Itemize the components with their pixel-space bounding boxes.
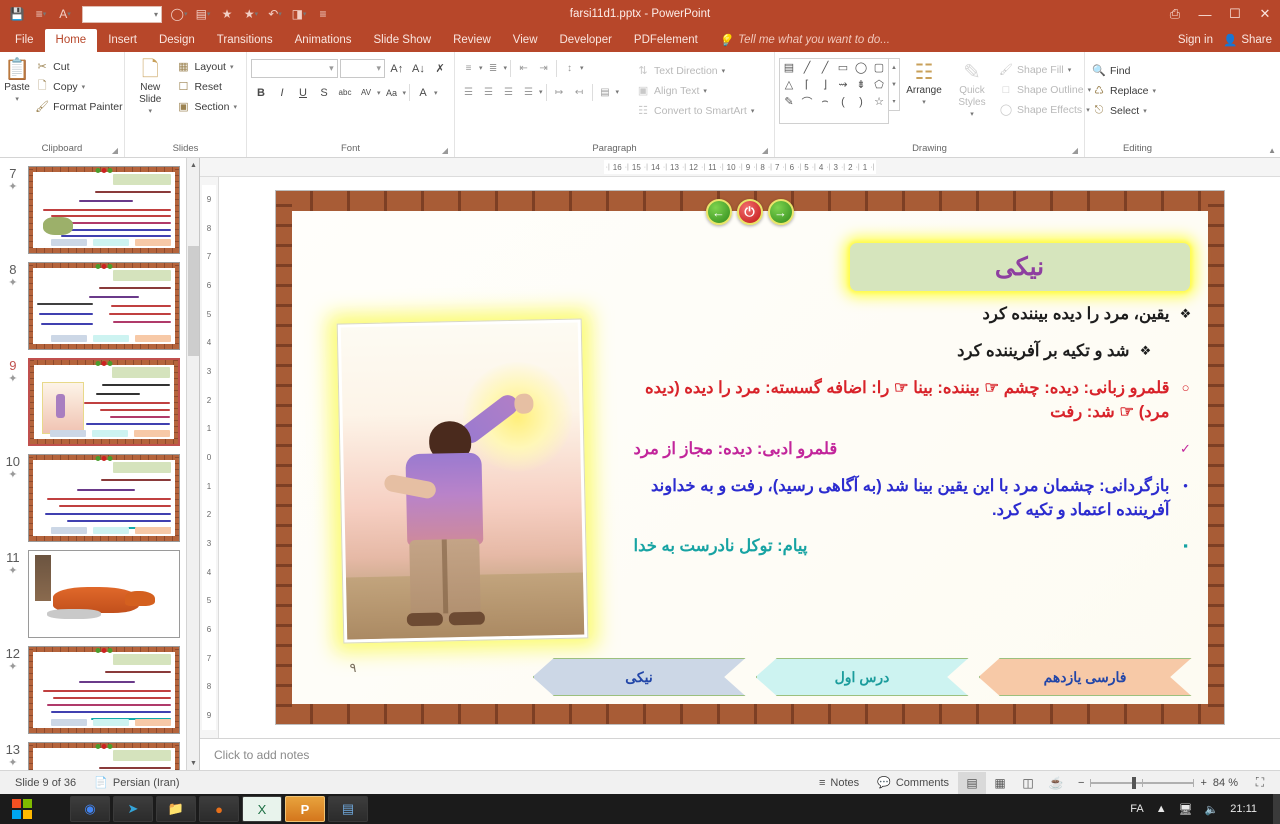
bullets-chevron-down-icon[interactable]: ▾ [479,64,483,72]
slideshow-view-icon[interactable]: ☕ [1042,772,1070,794]
tab-view[interactable]: View [502,29,549,52]
align-text-icon: ▣ [636,84,650,97]
scroll-down-icon[interactable]: ▼ [187,756,200,770]
line-spacing-chevron-down-icon[interactable]: ▾ [580,64,584,72]
thumbnail-slide-11[interactable]: 11 ✦ [0,546,186,642]
current-slide[interactable]: ← ⏻ → نیکی ❖ یقین، مرد را دیده بیننده کر… [275,190,1225,725]
reset-icon: ☐ [176,80,190,93]
ruler-v-9t: 9 [207,195,211,204]
shape-fill-button[interactable]: 🖌 Shape Fill ▾ [996,60,1096,79]
network-icon[interactable]: 🖥 [1179,803,1193,816]
underline-button[interactable]: U [293,83,313,102]
zoom-track[interactable] [1090,782,1194,784]
decrease-indent-button[interactable]: ⇤ [514,59,533,77]
bullet-text-5: بازگردانی: چشمان مرد با این یقین بینا شد… [634,475,1170,523]
star-icon-1[interactable]: ★ [216,3,238,25]
para-divider-3 [546,84,547,101]
ltr-direction-button[interactable]: ↦ [550,83,569,101]
ruler-v-5t: 5 [207,310,211,319]
shape-left-brace-icon[interactable]: ( [841,96,845,108]
thumb-meta-10: 10 ✦ [2,454,24,481]
drawing-dialog-launcher-icon[interactable]: ◢ [1072,146,1078,155]
text-direction-chevron-down-icon[interactable]: ▾ [722,67,726,75]
shape-outline-button[interactable]: □ Shape Outline ▾ [996,80,1096,99]
ribbon-group-font: ▾ ▾ A↑ A↓ ✗ B I U S abc AV ▾ Aa ▾ A ▾ [247,52,455,157]
cut-label: Cut [53,61,69,73]
horizontal-ruler[interactable]: ·| 16·| 15·| 14·| 13·| 12·| 11·| 10·| 9·… [200,158,1280,177]
show-desktop-button[interactable] [1273,794,1280,824]
section-button[interactable]: ▣ Section ▾ [173,97,242,116]
thumb-meta-8: 8 ✦ [2,262,24,289]
new-slide-button[interactable]: 🗋 New Slide ▾ [129,55,171,121]
align-center-button[interactable]: ☰ [479,83,498,101]
slide-sorter-view-icon[interactable]: ▦ [986,772,1014,794]
main-area: 7 ✦ [0,158,1280,770]
animation-star-icon-11: ✦ [8,565,17,577]
replace-chevron-down-icon[interactable]: ▾ [1153,87,1157,95]
ruler-h-4: 4 [816,163,826,172]
clock-time[interactable]: 21:11 [1230,803,1257,815]
shape-rectangle-icon[interactable]: ▭ [838,61,848,74]
copy-icon: 🗋 [35,77,49,96]
tab-file[interactable]: File [4,29,45,52]
ruler-h-13: 13 [667,163,682,172]
zoom-handle[interactable] [1132,777,1136,789]
shape-triangle-icon[interactable]: △ [785,78,793,91]
bullet-text-4: قلمرو ادبی: دیده: مجاز از مرد [634,438,1170,462]
find-label: Find [1110,65,1130,77]
font-dialog-launcher-icon[interactable]: ◢ [442,146,448,155]
select-button[interactable]: ⎋ Select ▾ [1089,101,1161,120]
banner-lesson-title[interactable]: نیکی [533,658,746,696]
strikethrough-button[interactable]: abc [335,83,355,102]
shape-curve-icon[interactable]: ⌒ [802,94,813,110]
lightbulb-icon: 💡 [719,33,733,47]
thumb-number-11: 11 [6,550,20,565]
slide-navigation-buttons[interactable]: ← ⏻ → [706,199,794,225]
tab-animations[interactable]: Animations [284,29,363,52]
thumb-frame-9[interactable] [28,358,180,446]
thumb-frame-8[interactable] [28,262,180,350]
notes-icon: ≡ [819,777,825,789]
thumbnail-slide-10[interactable]: 10 ✦ [0,450,186,546]
comments-button[interactable]: 💬 Comments [868,776,958,789]
align-right-button[interactable]: ☰ [499,83,518,101]
quick-styles-button[interactable]: ✎ Quick Styles ▾ [948,58,996,124]
thumb-number-10: 10 [6,454,20,469]
replace-icon: ♺ [1092,84,1106,97]
tab-home[interactable]: Home [45,29,98,52]
quick-styles-chevron-down-icon[interactable]: ▾ [970,109,974,121]
star-icon-2[interactable]: ★▾ [240,3,262,25]
format-icon[interactable]: ▤▾ [192,3,214,25]
clipboard-label-text: Clipboard [42,143,83,154]
arrange-chevron-down-icon[interactable]: ▾ [922,97,926,109]
tab-developer[interactable]: Developer [549,29,623,52]
magnifier-icon: 🔍 [1092,64,1106,77]
animation-star-icon-8: ✦ [8,277,17,289]
paste-chevron-down-icon[interactable]: ▾ [15,94,19,106]
figure-body [405,453,483,547]
clear-formatting-button[interactable]: ✗ [430,59,450,78]
tab-transitions[interactable]: Transitions [206,29,284,52]
ruler-v-6b: 6 [207,625,211,634]
mini-nav-7 [95,168,112,173]
quick-access-toolbar[interactable]: 💾 ≡▾ A▾ ▾ ◯▾ ▤▾ ★ ★▾ ↶▾ ◨▾ ≡ [0,3,334,25]
shapes-scroll-up-icon[interactable]: ▲ [889,59,899,76]
drawing-group-label: Drawing ◢ [779,143,1080,157]
vertical-ruler-marks: 9 8 7 6 5 4 3 2 1 0 1 2 3 4 5 6 7 [202,185,216,730]
ruler-h-12: 12 [686,163,701,172]
ruler-h-5: 5 [801,163,811,172]
copy-chevron-down-icon[interactable]: ▾ [82,83,86,91]
paste-icon: 📋 [4,58,30,82]
slide-border-bottom [276,704,1224,724]
new-slide-label: New Slide [129,82,171,106]
text-direction-icon: ⇅ [636,64,650,77]
shape-fill-chevron-down-icon[interactable]: ▾ [1068,66,1072,74]
window-controls[interactable]: ⎙ — ☐ ✕ [1160,0,1280,28]
character-spacing-chevron-down-icon[interactable]: ▾ [377,89,381,97]
zoom-level-text: 84 % [1213,777,1238,789]
redo-icon[interactable]: ↶▾ [264,3,286,25]
mini-title-7 [113,174,171,185]
font-color-button[interactable]: A [413,83,433,102]
language-indicator-fa[interactable]: FA [1130,803,1143,815]
horizontal-ruler-marks: ·| 16·| 15·| 14·| 13·| 12·| 11·| 10·| 9·… [604,160,877,174]
copy-button[interactable]: 🗋 Copy ▾ [32,77,127,96]
text-direction-button[interactable]: ⇅ Text Direction ▾ [633,61,759,80]
prev-slide-button[interactable]: ← [706,199,732,225]
slide-canvas[interactable]: ← ⏻ → نیکی ❖ یقین، مرد را دیده بیننده کر… [219,177,1280,738]
ruler-v-1t: 1 [207,424,211,433]
share-person-icon: 👤 [1223,33,1237,47]
rtl-direction-button[interactable]: ↤ [570,83,589,101]
ruler-v-4t: 4 [207,338,211,347]
numbering-button[interactable]: ≣ [484,59,503,77]
ruler-h-11: 11 [705,163,719,172]
tell-me-search[interactable]: 💡 Tell me what you want to do... [709,29,900,52]
align-text-button[interactable]: ▣ Align Text ▾ [633,81,759,100]
shape-fill-icon[interactable]: ◯▾ [168,3,190,25]
ruler-h-6: 6 [787,163,797,172]
shape-textbox-icon[interactable]: ▤ [784,61,794,74]
ruler-h-2: 2 [845,163,855,172]
shape-down-arrow-icon[interactable]: ⇟ [856,78,865,91]
zoom-slider[interactable]: − + 84 % [1070,777,1246,789]
shape-connector-icon[interactable]: ⌋ [823,78,827,91]
thumb-frame-10[interactable] [28,454,180,542]
shape-effects-icon: ◯ [999,103,1013,116]
shapes-scroll-down-icon[interactable]: ▼ [889,76,899,93]
paintbrush-icon: 🖌 [35,100,49,113]
thumb-number-8: 8 [9,262,16,277]
language-text: Persian (Iran) [113,777,180,789]
start-button[interactable] [0,794,44,824]
paste-button[interactable]: 📋 Paste ▾ [4,55,30,109]
ribbon-display-options-icon[interactable]: ⎙ [1160,0,1190,28]
tab-slide-show[interactable]: Slide Show [363,29,443,52]
home-button[interactable]: ⏻ [737,199,763,225]
bullet-item-5: • بازگردانی: چشمان مرد با این یقین بینا … [634,475,1194,523]
replace-label: Replace [1110,85,1149,97]
figure-right-shoe [448,612,484,626]
align-icon[interactable]: ◨▾ [288,3,310,25]
comment-bubble-icon: 💬 [877,776,891,789]
align-left-button[interactable]: ☰ [459,83,478,101]
convert-smartart-label: Convert to SmartArt [654,105,747,117]
editing-label-text: Editing [1123,143,1152,154]
title-bar: 💾 ≡▾ A▾ ▾ ◯▾ ▤▾ ★ ★▾ ↶▾ ◨▾ ≡ farsi11d1.p… [0,0,1280,28]
layout-chevron-down-icon[interactable]: ▾ [230,63,234,71]
mini-slide-11 [29,551,179,637]
increase-indent-button[interactable]: ⇥ [534,59,553,77]
reset-label: Reset [194,81,221,93]
mini-slide-8 [29,263,179,349]
bold-button[interactable]: B [251,83,271,102]
bullets-button[interactable]: ≡ [459,59,478,77]
shape-effects-button[interactable]: ◯ Shape Effects ▾ [996,100,1096,119]
customize-qat-icon[interactable]: ≡ [312,3,334,25]
ruler-v-7t: 7 [207,252,211,261]
change-case-button[interactable]: Aa [382,83,402,102]
animation-star-icon-13: ✦ [8,757,17,769]
para-divider-1 [510,60,511,77]
select-chevron-down-icon[interactable]: ▾ [1143,107,1147,115]
sign-in-link[interactable]: Sign in [1178,34,1213,46]
shapes-more-icon[interactable]: ▾ [889,93,899,110]
page-title: نیکی [995,252,1044,282]
shape-scribble-icon[interactable]: ✎ [784,95,793,108]
justify-chevron-down-icon[interactable]: ▾ [539,88,543,96]
arrange-icon: ☷ [915,61,934,85]
shape-effects-label: Shape Effects [1017,104,1082,116]
thumbnail-scrollbar[interactable]: ▲ ▼ [186,158,199,770]
thumbnail-slide-13[interactable]: 13 ✦ [0,738,186,770]
shape-line-icon[interactable]: ╱ [804,61,811,74]
ribbon-tab-bar: File Home Insert Design Transitions Anim… [0,28,1280,52]
clipboard-dialog-launcher-icon[interactable]: ◢ [112,146,118,155]
mini-brick-left-7 [29,167,33,253]
ruler-v-3t: 3 [207,367,211,376]
italic-button[interactable]: I [272,83,292,102]
slide-illustration[interactable] [336,318,588,643]
font-name-input[interactable]: ▾ [251,59,338,78]
notes-button[interactable]: ≡ Notes [810,777,868,789]
figure-left-shoe [406,612,442,626]
numbering-chevron-down-icon[interactable]: ▾ [504,64,508,72]
zoom-in-icon[interactable]: + [1200,777,1206,789]
shape-star-icon[interactable]: ☆ [874,95,884,108]
shape-right-arrow-icon[interactable]: ⇝ [838,78,847,91]
figure-legs [409,539,481,622]
mini-slide-13 [29,743,179,770]
thumb-frame-13[interactable] [28,742,180,770]
font-color-chevron-down-icon[interactable]: ▾ [434,89,438,97]
editing-group-label: Editing [1089,143,1186,157]
shrink-font-button[interactable]: A↓ [409,59,429,78]
shape-arrow-icon[interactable]: ╱ [822,61,829,74]
thumb-frame-7[interactable] [28,166,180,254]
banner-book-name[interactable]: فارسی یازدهم [979,658,1192,696]
bullet-marker-2: ❖ [1138,340,1154,361]
animation-star-icon-12: ✦ [8,661,17,673]
new-slide-icon: 🗋 [142,58,159,82]
vertical-ruler[interactable]: 9 8 7 6 5 4 3 2 1 0 1 2 3 4 5 6 7 [200,177,219,738]
bullet-text-1: یقین، مرد را دیده بیننده کرد [634,303,1170,327]
mini-brick-right-7 [175,167,179,253]
paragraph-group-label: Paragraph ◢ [459,143,770,157]
shape-fill-icon: 🖌 [999,63,1013,76]
thumb-frame-12[interactable] [28,646,180,734]
ruler-v-1b: 1 [207,482,211,491]
section-icon: ▣ [176,100,190,113]
section-label: Section [194,101,229,113]
undo-icon[interactable]: ≡▾ [30,3,52,25]
normal-view-icon[interactable]: ▤ [958,772,986,794]
mini-brick-bottom-7 [29,248,179,253]
minimize-icon[interactable]: — [1190,0,1220,28]
smartart-icon: ☷ [636,104,650,117]
figure-hand [514,394,533,414]
ruler-v-3b: 3 [207,539,211,548]
thumbnail-slide-12[interactable]: 12 ✦ [0,642,186,738]
bullet-marker-1: ❖ [1178,303,1194,324]
character-spacing-button[interactable]: AV [356,83,376,102]
tab-insert[interactable]: Insert [97,29,148,52]
share-label: Share [1241,34,1272,46]
align-text-chevron-down-icon[interactable]: ▾ [703,87,707,95]
tab-pdfelement[interactable]: PDFelement [623,29,709,52]
fit-slide-to-window-icon[interactable]: ⛶ [1246,772,1274,794]
ribbon-group-drawing: ▤ ╱ ╱ ▭ ◯ ▢ △ ⌈ ⌋ ⇝ ⇟ ⬠ ✎ ⌒ ⌢ ( ) [775,52,1085,157]
tab-review[interactable]: Review [442,29,502,52]
comments-label: Comments [896,777,949,789]
section-chevron-down-icon[interactable]: ▾ [233,103,237,111]
shape-pentagon-icon[interactable]: ⬠ [874,78,884,91]
shape-right-brace-icon[interactable]: ) [859,96,863,108]
convert-to-smartart-button[interactable]: ☷ Convert to SmartArt ▾ [633,101,759,120]
thumb-frame-11[interactable] [28,550,180,638]
quick-styles-label: Quick Styles [948,85,996,109]
slide-bullet-list[interactable]: ❖ یقین، مرد را دیده بیننده کرد ❖ شد و تک… [634,303,1194,572]
close-icon[interactable]: ✕ [1250,0,1280,28]
grow-font-button[interactable]: A↑ [387,59,407,78]
style-combo[interactable]: ▾ [82,6,162,23]
paragraph-dialog-launcher-icon[interactable]: ◢ [762,146,768,155]
thumb-meta-13: 13 ✦ [2,742,24,769]
bullet-item-4: ✓ قلمرو ادبی: دیده: مجاز از مرد [634,438,1194,462]
ruler-v-6t: 6 [207,281,211,290]
justify-button[interactable]: ☰ [519,83,538,101]
change-case-chevron-down-icon[interactable]: ▾ [403,89,407,97]
thumb-number-7: 7 [9,166,16,181]
scroll-up-icon[interactable]: ▲ [187,158,200,172]
mini-slide-9 [30,360,178,444]
language-indicator[interactable]: 📄 Persian (Iran) [85,776,188,789]
zoom-out-icon[interactable]: − [1078,777,1084,789]
thumbnail-slide-9[interactable]: 9 ✦ [0,354,186,450]
para-divider-2 [556,60,557,77]
ruler-h-15: 15 [629,163,644,172]
shape-arc-icon[interactable]: ⌢ [821,95,828,108]
shape-fill-label: Shape Fill [1017,64,1064,76]
slide-indicator[interactable]: Slide 9 of 36 [6,777,85,789]
save-icon[interactable]: 💾 [6,3,28,25]
paragraph-label-text: Paragraph [592,143,636,154]
line-spacing-button[interactable]: ↕ [560,59,579,77]
align-text-label: Align Text [654,85,699,97]
shape-outline-label: Shape Outline [1017,84,1084,96]
cut-button[interactable]: ✂ Cut [32,57,127,76]
next-slide-button[interactable]: → [768,199,794,225]
scrollbar-thumb[interactable] [188,246,199,356]
clipboard-group-label: Clipboard ◢ [4,143,120,157]
slides-label-text: Slides [173,143,199,154]
shapes-gallery[interactable]: ▤ ╱ ╱ ▭ ◯ ▢ △ ⌈ ⌋ ⇝ ⇟ ⬠ ✎ ⌒ ⌢ ( ) [779,58,889,124]
select-label: Select [1110,105,1139,117]
restore-icon[interactable]: ☐ [1220,0,1250,28]
slide-page-number: ۹ [350,660,357,676]
show-hidden-icons[interactable]: ▲ [1156,803,1167,815]
ruler-v-8b: 8 [207,682,211,691]
bullet-text-6: پیام: توکل نادرست به خدا [634,535,1170,559]
format-painter-label: Format Painter [53,101,122,113]
font-size-input[interactable]: ▾ [340,59,385,78]
shape-rounded-rect-icon[interactable]: ▢ [874,61,884,74]
smartart-chevron-down-icon[interactable]: ▾ [751,107,755,115]
reading-view-icon[interactable]: ◫ [1014,772,1042,794]
thumb-number-13: 13 [6,742,20,757]
slide-thumbnail-pane[interactable]: 7 ✦ [0,158,200,770]
taskbar: ◉ ➤ 📁 ● X P ▤ FA ▲ 🖥 🔈 21:11 [0,794,1280,824]
thumbnail-slide-8[interactable]: 8 ✦ [0,258,186,354]
format-painter-button[interactable]: 🖌 Format Painter [32,97,127,116]
replace-button[interactable]: ♺ Replace ▾ [1089,81,1161,100]
shape-outline-icon: □ [999,84,1013,96]
volume-icon[interactable]: 🔈 [1205,803,1219,816]
ruler-h-1: 1 [860,163,870,172]
share-button[interactable]: 👤 Share [1223,33,1272,47]
notes-pane[interactable]: Click to add notes [200,738,1280,770]
layout-button[interactable]: ▦ Layout ▾ [173,57,242,76]
reset-button[interactable]: ☐ Reset [173,77,242,96]
shape-elbow-icon[interactable]: ⌈ [805,78,809,91]
collapse-ribbon-icon[interactable]: ▲ [1268,146,1276,155]
quick-styles-icon: ✎ [963,61,981,85]
arrange-button[interactable]: ☷ Arrange ▾ [900,58,948,124]
shapes-scrollbar[interactable]: ▲ ▼ ▾ [889,58,900,111]
columns-button[interactable]: ▤ [596,83,615,101]
columns-chevron-down-icon[interactable]: ▾ [616,88,620,96]
new-slide-chevron-down-icon[interactable]: ▾ [148,106,152,118]
thumbnail-slide-7[interactable]: 7 ✦ [0,162,186,258]
ruler-h-14: 14 [648,163,663,172]
font-label-text: Font [341,143,360,154]
ribbon-group-editing: 🔍 Find ♺ Replace ▾ ⎋ Select ▾ Editing [1085,52,1190,157]
ruler-v-4b: 4 [207,568,211,577]
tab-design[interactable]: Design [148,29,206,52]
ruler-v-5b: 5 [207,596,211,605]
find-button[interactable]: 🔍 Find [1089,61,1161,80]
font-icon[interactable]: A▾ [54,3,76,25]
ruler-v-2t: 2 [207,396,211,405]
text-shadow-button[interactable]: S [314,83,334,102]
shape-oval-icon[interactable]: ◯ [855,61,867,74]
windows-logo-icon [12,799,32,819]
banner-lesson-number[interactable]: درس اول [756,658,969,696]
slide-title-box[interactable]: نیکی [850,243,1190,291]
